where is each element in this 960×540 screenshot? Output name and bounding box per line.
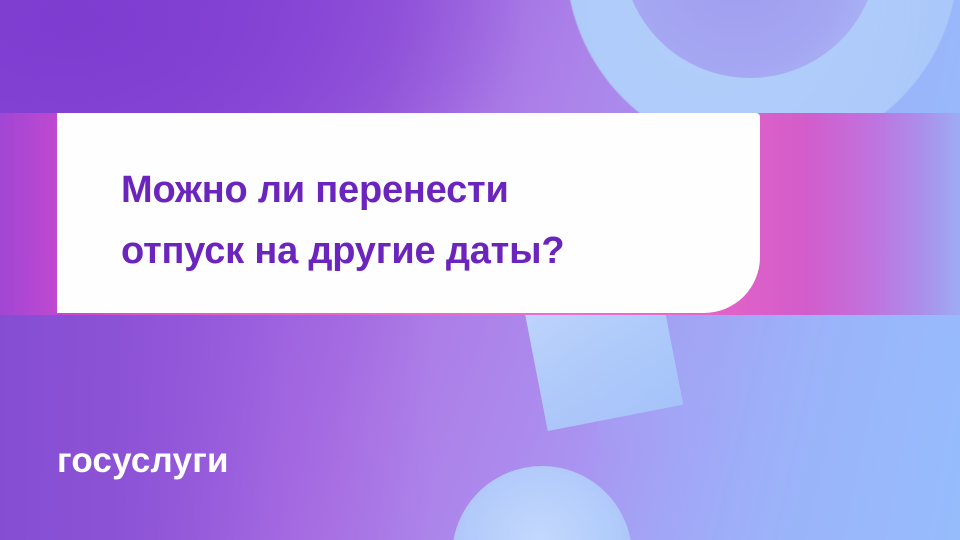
promo-card-canvas: Можно ли перенести отпуск на другие даты… (0, 0, 960, 540)
gosuslugi-logo: госуслуги (57, 441, 229, 481)
page-title: Можно ли перенести отпуск на другие даты… (121, 160, 721, 282)
headline-card-left-fill (57, 113, 81, 313)
